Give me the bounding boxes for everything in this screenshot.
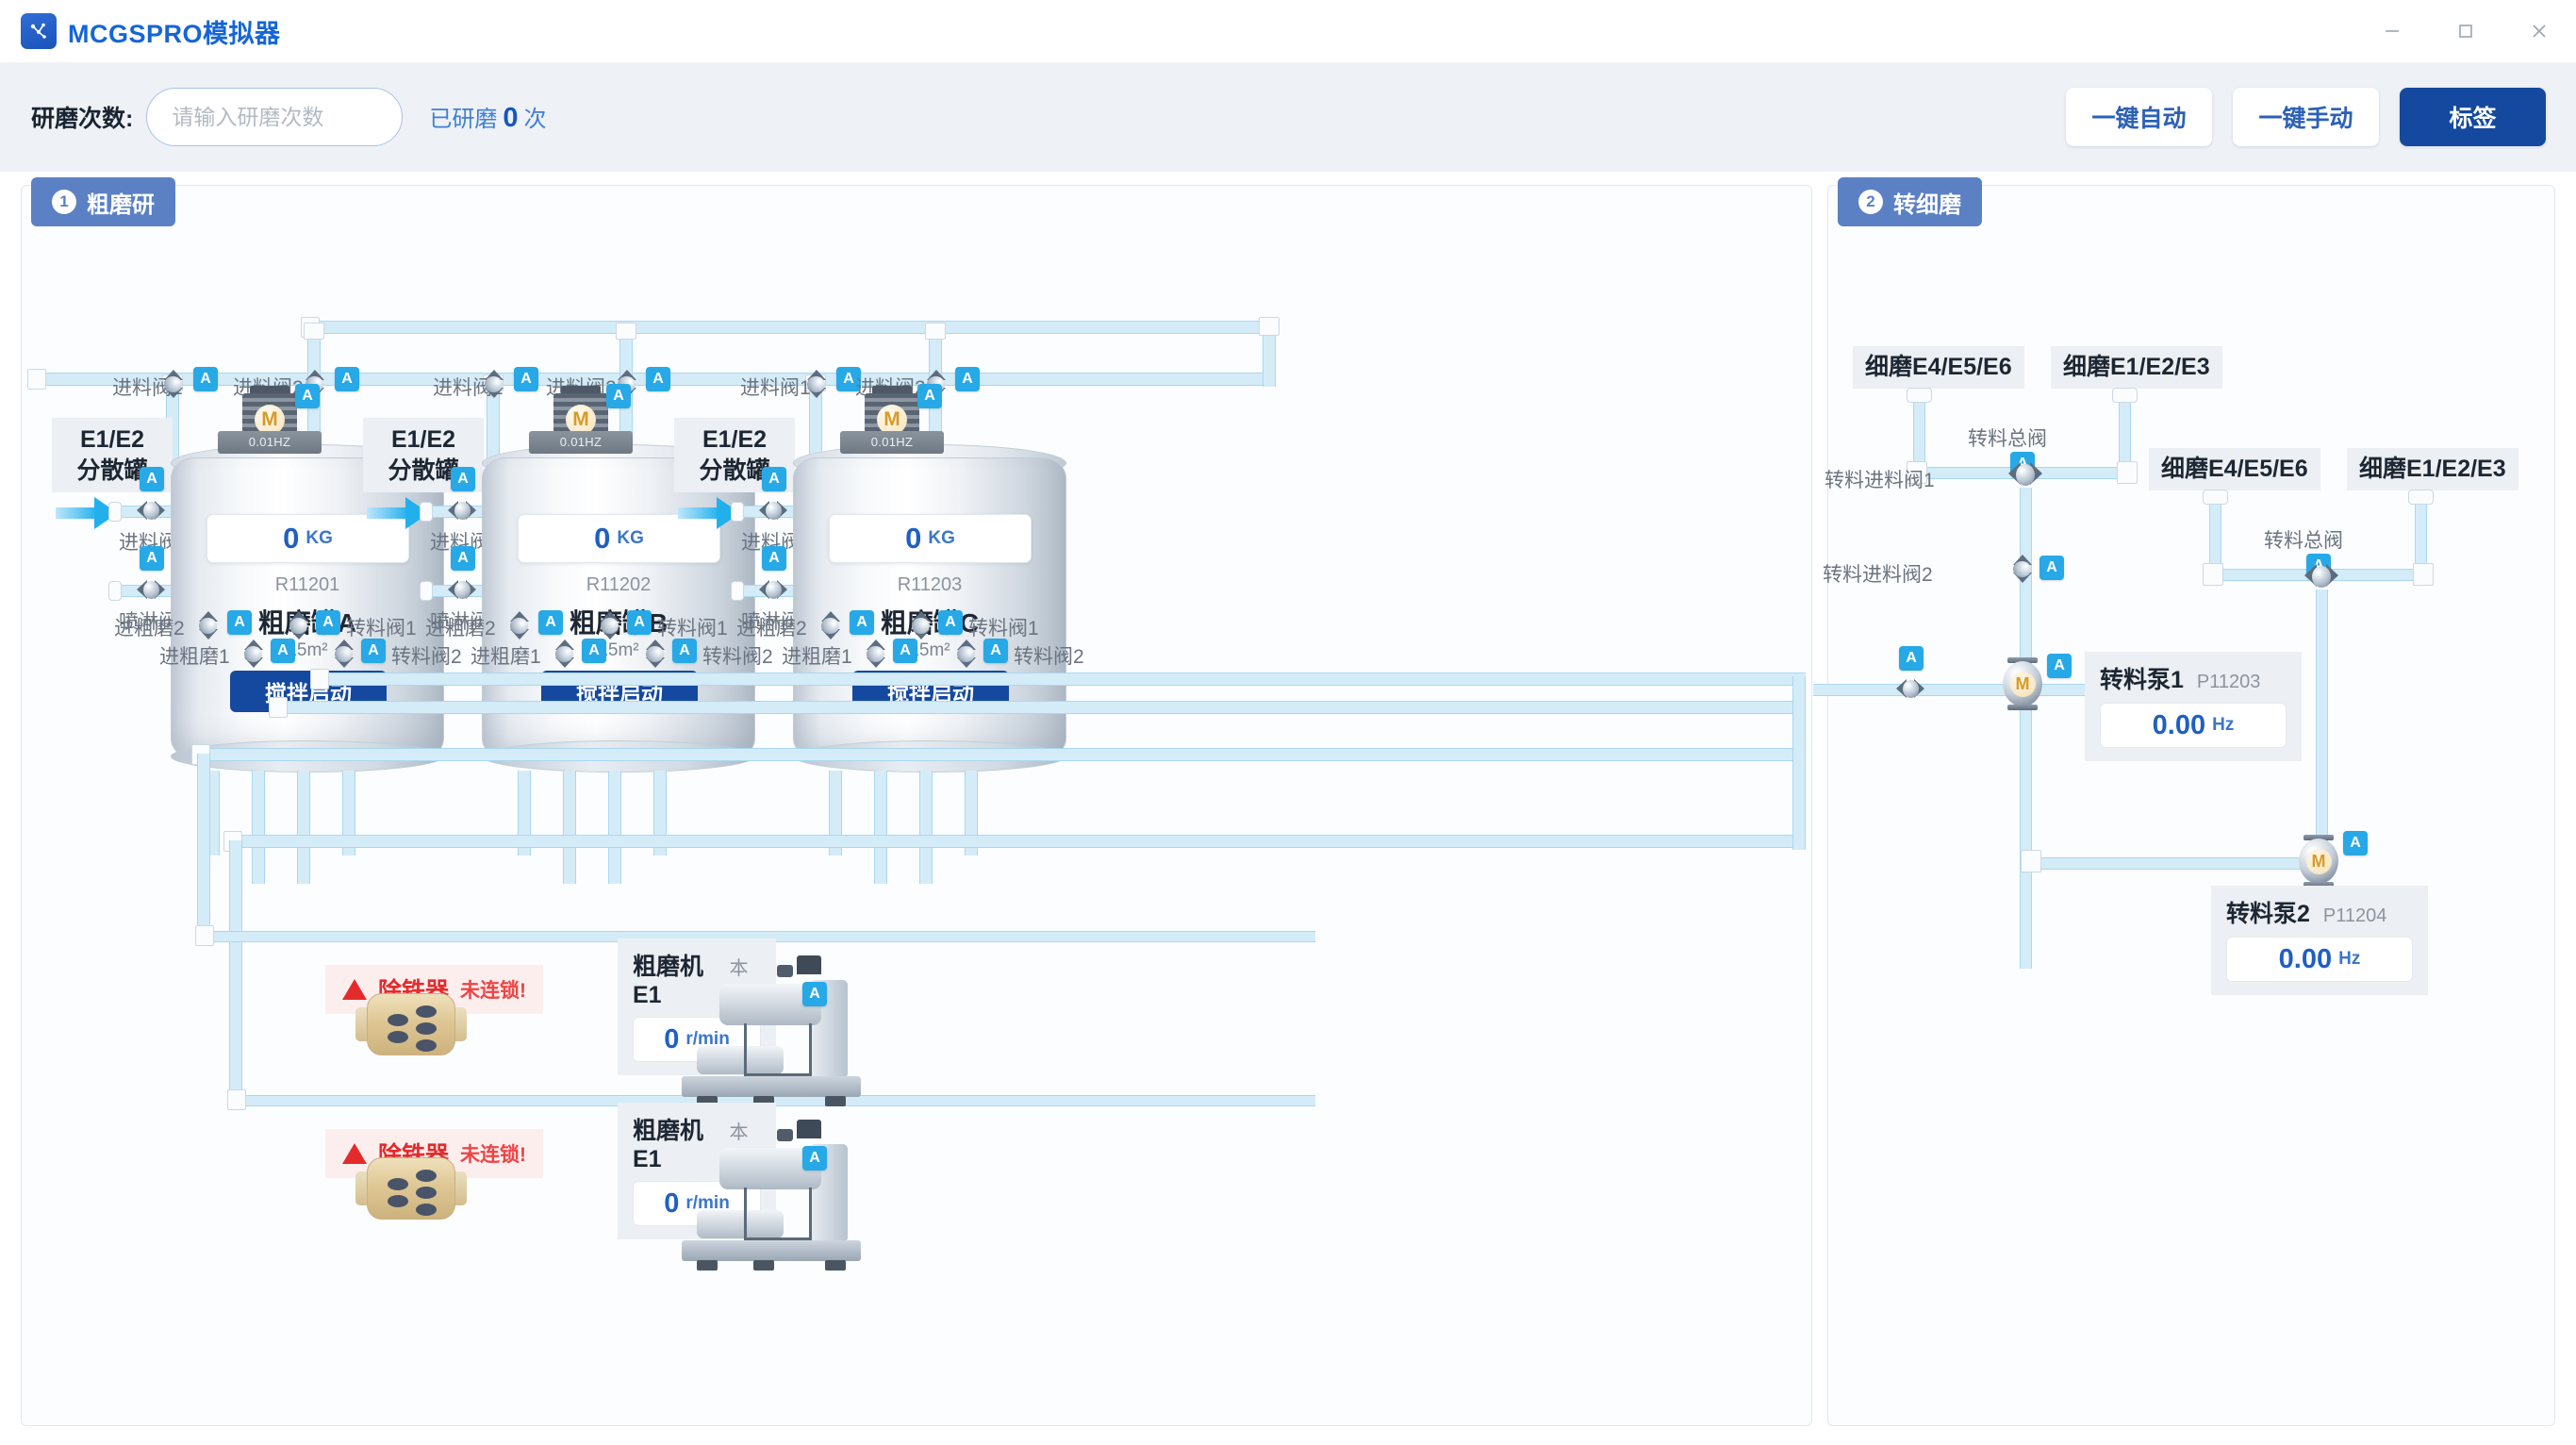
- tank-weight-unit: KG: [617, 528, 644, 549]
- label-transfer-valve-1-a: 转料阀1: [346, 613, 417, 641]
- label-transfer-valve-1-c: 转料阀1: [968, 613, 1039, 641]
- pipe-fitting: [195, 925, 214, 946]
- valve-into-coarse-1-b[interactable]: [551, 639, 577, 668]
- valve-feed-c[interactable]: [759, 498, 787, 524]
- chip-fine-e123-2: 细磨E1/E2/E3: [2347, 448, 2518, 490]
- pipe-to-pump-2: [2028, 857, 2324, 870]
- auto-badge-transfer-1-b[interactable]: A: [627, 610, 652, 635]
- pipe-out-b2: [563, 771, 576, 884]
- pipe-header-1: [316, 673, 1806, 686]
- tab-fine-grinding[interactable]: 2 转细磨: [1838, 177, 1982, 226]
- auto-badge-feed-1-b[interactable]: A: [514, 367, 538, 391]
- valve-into-coarse-1-a[interactable]: [239, 639, 266, 668]
- chip-line-1: E1/E2: [64, 424, 160, 456]
- tag-button[interactable]: 标签: [2400, 88, 2546, 146]
- pipe-header-4: [229, 835, 1806, 848]
- valve-feed-b[interactable]: [448, 498, 476, 524]
- chip-line-1: E1/E2: [686, 424, 783, 456]
- pipe-fitting: [310, 669, 329, 689]
- auto-badge-spray-c[interactable]: A: [762, 546, 786, 571]
- agitator-hz-a: 0.01HZ: [218, 431, 322, 454]
- auto-badge-into-coarse-1-a[interactable]: A: [271, 639, 295, 663]
- label-main-transfer-valve-1: 转料总阀: [1968, 424, 2047, 452]
- auto-badge-feed-a[interactable]: A: [140, 467, 164, 491]
- coarse-mill-machine-2[interactable]: [682, 1120, 861, 1271]
- valve-transfer-feed-1[interactable]: [1896, 676, 1924, 703]
- label-transfer-valve-2-c: 转料阀2: [1014, 641, 1084, 670]
- grind-count-input[interactable]: [146, 88, 403, 146]
- auto-badge-transfer-2-a[interactable]: A: [361, 639, 386, 663]
- fine-grinding-panel: 2 转细磨 细磨E4/E5/E6 细磨E1/E2/E3 转料总阀 A 细磨E4/…: [1827, 185, 2555, 1426]
- auto-badge-transfer-1-a[interactable]: A: [316, 610, 340, 635]
- valve-feed-1-a[interactable]: [159, 370, 186, 398]
- pipe-fitting: [227, 1089, 246, 1110]
- valve-spray-a[interactable]: [137, 577, 165, 604]
- auto-badge-spray-a[interactable]: A: [140, 546, 164, 571]
- valve-into-coarse-2-a[interactable]: [194, 611, 221, 639]
- auto-badge-feed-1-a[interactable]: A: [193, 367, 218, 391]
- pipe-fitting: [616, 323, 636, 340]
- iron-remover-2[interactable]: [355, 1157, 467, 1220]
- valve-into-coarse-1-c[interactable]: [862, 639, 888, 668]
- agitator-hz-c: 0.01HZ: [840, 431, 944, 454]
- grind-done-status: 已研磨0次: [429, 100, 546, 134]
- pipe-out-a2: [252, 771, 265, 884]
- label-into-coarse-1-b: 进粗磨1: [471, 641, 541, 670]
- pump-code-1: P11203: [2197, 672, 2260, 693]
- valve-transfer-1-a[interactable]: [285, 611, 311, 639]
- tank-weight-unit: KG: [305, 528, 333, 549]
- auto-badge-feed-2-b[interactable]: A: [646, 367, 670, 391]
- chip-fine-e123-1: 细磨E1/E2/E3: [2051, 346, 2222, 389]
- pipe-left-riser-2: [229, 840, 242, 1103]
- valve-transfer-2-b[interactable]: [641, 639, 668, 668]
- label-into-coarse-2-a: 进粗磨2: [114, 613, 185, 641]
- auto-badge-feed-c[interactable]: A: [762, 467, 786, 491]
- label-transfer-valve-1-b: 转料阀1: [657, 613, 728, 641]
- tab-label: 粗磨研: [87, 186, 155, 219]
- auto-badge-pump-2[interactable]: A: [2343, 831, 2368, 855]
- auto-badge-into-coarse-1-b[interactable]: A: [582, 639, 606, 663]
- valve-main-transfer-1[interactable]: [2008, 459, 2042, 491]
- tab-coarse-grinding[interactable]: 1 粗磨研: [31, 177, 175, 226]
- pipe-g2-down: [2316, 590, 2328, 863]
- auto-badge-agitator-b[interactable]: A: [606, 384, 631, 408]
- pipe-elbow: [2413, 563, 2434, 586]
- auto-badge-transfer-2-c[interactable]: A: [983, 639, 1008, 663]
- title-bar: MCGSPRO模拟器: [0, 0, 2576, 62]
- pipe-left-riser-1: [197, 754, 210, 938]
- maximize-icon[interactable]: [2429, 0, 2502, 62]
- label-into-coarse-2-b: 进粗磨2: [425, 613, 496, 641]
- auto-badge-into-coarse-1-c[interactable]: A: [893, 639, 917, 663]
- transfer-pump-2[interactable]: M: [2292, 835, 2345, 888]
- pipe-cap: [420, 581, 433, 601]
- pump-freq-unit-1: Hz: [2212, 715, 2234, 736]
- grind-done-prefix: 已研磨: [429, 107, 497, 132]
- pump-freq-value-2: 0.00: [2279, 944, 2332, 975]
- pipe-cap: [420, 502, 433, 522]
- pipe-cap: [1907, 388, 1932, 403]
- one-key-manual-button[interactable]: 一键手动: [2233, 88, 2379, 146]
- pump-freq-unit-2: Hz: [2338, 949, 2360, 970]
- auto-badge-pump-1[interactable]: A: [2047, 654, 2072, 678]
- pipe-header-2: [274, 701, 1806, 714]
- auto-badge-mill-1[interactable]: A: [802, 982, 827, 1006]
- app-title: MCGSPRO模拟器: [68, 13, 281, 50]
- grind-done-value: 0: [503, 103, 518, 133]
- tank-code-c: R11203: [793, 574, 1066, 596]
- pipe-to-pump-1: [1813, 684, 2105, 696]
- window-controls: [2355, 0, 2576, 62]
- tab-number: 1: [52, 190, 76, 214]
- pipe-right-riser: [1792, 676, 1806, 850]
- label-transfer-feed-valve-2: 转料进料阀2: [1823, 559, 1933, 588]
- label-feed-valve-1-c: 进料阀1: [740, 373, 811, 401]
- valve-feed-1-c[interactable]: [802, 370, 829, 398]
- pipe-cap: [2112, 388, 2138, 403]
- valve-transfer-1-c[interactable]: [907, 611, 933, 639]
- toolbar: 研磨次数: 已研磨0次 一键自动 一键手动 标签: [0, 62, 2576, 172]
- pump-freq-readout-2: 0.00 Hz: [2226, 937, 2413, 982]
- label-into-coarse-1-a: 进粗磨1: [159, 641, 230, 670]
- tank-weight-readout-c: 0 KG: [829, 514, 1032, 563]
- tab-number: 2: [1858, 190, 1883, 214]
- pipe-fitting: [925, 323, 946, 340]
- auto-badge-agitator-a[interactable]: A: [295, 384, 320, 408]
- valve-main-transfer-2[interactable]: [2304, 561, 2338, 593]
- tank-code-b: R11202: [482, 574, 755, 596]
- pipe-header-3: [197, 748, 1806, 761]
- tank-weight-value: 0: [283, 522, 299, 556]
- mill-speed-value-1: 0: [664, 1024, 679, 1055]
- one-key-auto-button[interactable]: 一键自动: [2066, 88, 2212, 146]
- pipe-out-a3: [297, 771, 310, 884]
- auto-badge-mill-2[interactable]: A: [802, 1146, 827, 1171]
- toolbar-buttons: 一键自动 一键手动 标签: [2066, 88, 2546, 146]
- tab-label: 转细磨: [1893, 186, 1961, 219]
- auto-badge-feed-b[interactable]: A: [451, 467, 475, 491]
- valve-transfer-2-c[interactable]: [952, 639, 979, 668]
- close-icon[interactable]: [2502, 0, 2576, 62]
- pump-name-1: 转料泵1: [2100, 661, 2184, 695]
- auto-badge-transfer-feed-2[interactable]: A: [2039, 556, 2064, 580]
- pipe-elbow: [2021, 850, 2041, 872]
- minimize-icon[interactable]: [2355, 0, 2429, 62]
- coarse-grinding-panel: 1 粗磨研 进料阀1 A 进料阀2 A E1/E2 分散罐 A 进料阀: [21, 185, 1812, 1426]
- valve-feed-1-b[interactable]: [480, 370, 506, 398]
- auto-badge-transfer-feed-1[interactable]: A: [1899, 646, 1924, 671]
- chip-line-1: E1/E2: [375, 424, 471, 456]
- pipe-fitting: [269, 697, 288, 718]
- grind-done-suffix: 次: [523, 107, 546, 132]
- pipe-cap: [108, 581, 122, 601]
- pipe-out-c3: [919, 771, 933, 884]
- pipe-out-b3: [608, 771, 621, 884]
- chip-fine-e456-1: 细磨E4/E5/E6: [1853, 346, 2024, 389]
- valve-transfer-2-a[interactable]: [330, 639, 356, 668]
- pipe-cap: [731, 581, 744, 601]
- warning-message: 未连锁!: [460, 975, 526, 1004]
- label-transfer-valve-2-a: 转料阀2: [391, 641, 462, 670]
- tank-code-a: R11201: [171, 574, 444, 596]
- label-transfer-valve-2-b: 转料阀2: [702, 641, 773, 670]
- label-into-coarse-2-c: 进粗磨2: [736, 613, 807, 641]
- pipe-fitting: [1259, 317, 1280, 336]
- pipe-cap: [731, 502, 744, 522]
- coarse-mill-machine-1[interactable]: [682, 955, 861, 1106]
- iron-remover-1[interactable]: [355, 993, 467, 1055]
- pipe-cap: [108, 502, 122, 522]
- chip-fine-e456-2: 细磨E4/E5/E6: [2149, 448, 2320, 490]
- agitator-hz-b: 0.01HZ: [529, 431, 633, 454]
- valve-spray-c[interactable]: [759, 577, 787, 604]
- auto-badge-spray-b[interactable]: A: [451, 546, 475, 571]
- grind-count-label: 研磨次数:: [31, 100, 133, 134]
- pump-meter-1: 转料泵1 P11203 0.00 Hz: [2085, 652, 2302, 761]
- auto-badge-transfer-2-b[interactable]: A: [672, 639, 697, 663]
- pipe-out-c2: [874, 771, 887, 884]
- valve-spray-b[interactable]: [448, 577, 476, 604]
- pipe-cap: [2408, 490, 2434, 505]
- pump-meter-2: 转料泵2 P11204 0.00 Hz: [2211, 886, 2428, 995]
- auto-badge-feed-2-a[interactable]: A: [335, 367, 359, 391]
- valve-into-coarse-2-b[interactable]: [505, 611, 532, 639]
- transfer-pump-1[interactable]: M: [1996, 657, 2049, 710]
- auto-badge-into-coarse-2-b[interactable]: A: [538, 610, 563, 635]
- pipe-elbow: [2203, 563, 2223, 586]
- pipe-top-a: [305, 321, 1268, 334]
- pump-code-2: P11204: [2323, 905, 2386, 927]
- tank-weight-unit: KG: [928, 528, 955, 549]
- mill-speed-value-2: 0: [664, 1188, 679, 1220]
- auto-badge-into-coarse-2-c[interactable]: A: [850, 610, 874, 635]
- label-into-coarse-1-c: 进粗磨1: [782, 641, 852, 670]
- pump-name-2: 转料泵2: [2226, 895, 2310, 929]
- warning-message: 未连锁!: [460, 1139, 526, 1168]
- valve-feed-a[interactable]: [137, 498, 165, 524]
- auto-badge-transfer-1-c[interactable]: A: [938, 610, 963, 635]
- valve-transfer-feed-2[interactable]: [2008, 555, 2035, 583]
- valve-transfer-1-b[interactable]: [596, 611, 622, 639]
- pipe-cap: [2203, 490, 2228, 505]
- tank-weight-value: 0: [594, 522, 610, 556]
- pump-freq-readout-1: 0.00 Hz: [2100, 703, 2287, 748]
- auto-badge-into-coarse-2-a[interactable]: A: [227, 610, 252, 635]
- auto-badge-agitator-c[interactable]: A: [917, 384, 942, 408]
- pump-freq-value-1: 0.00: [2153, 710, 2205, 741]
- label-main-transfer-valve-2: 转料总阀: [2264, 525, 2343, 554]
- pipe-fitting: [27, 369, 46, 390]
- pipe-elbow: [2117, 461, 2138, 484]
- network-nodes-icon: [21, 13, 57, 49]
- auto-badge-feed-2-c[interactable]: A: [955, 367, 980, 391]
- valve-into-coarse-2-c[interactable]: [817, 611, 843, 639]
- label-transfer-feed-valve-1: 转料进料阀1: [1825, 465, 1935, 493]
- tank-weight-value: 0: [905, 522, 921, 556]
- pipe-fitting: [304, 323, 324, 340]
